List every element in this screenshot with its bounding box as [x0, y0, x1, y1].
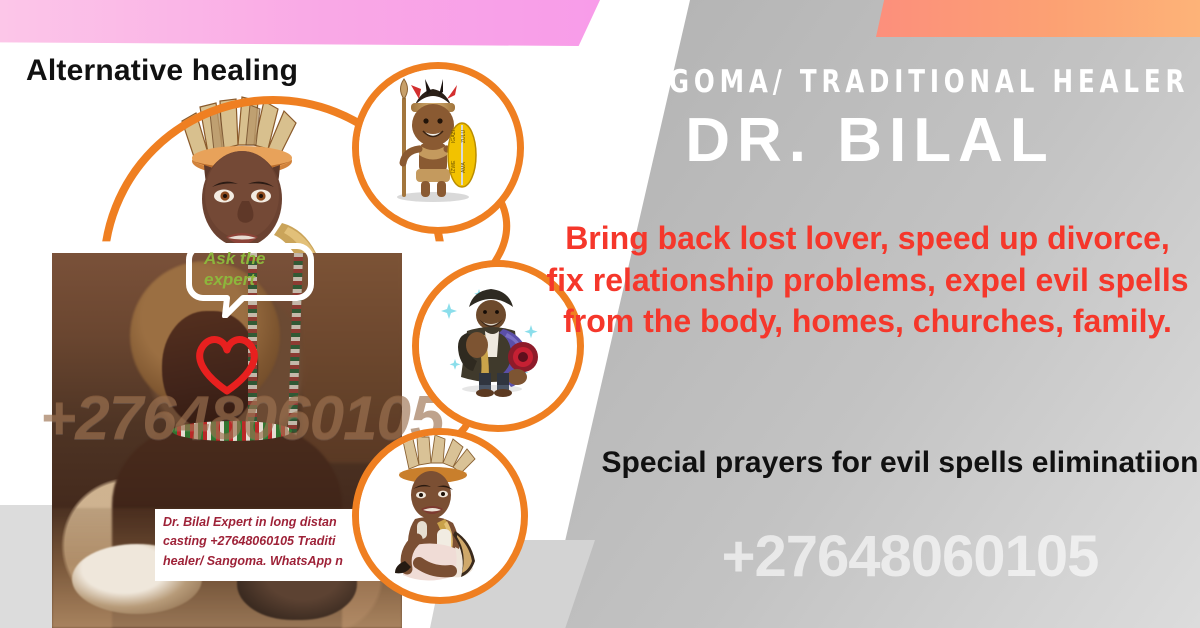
- top-orange-bar: [876, 0, 1200, 37]
- caption-line-1: Dr. Bilal Expert in long distan: [163, 513, 384, 532]
- speech-bubble-label: Ask the expert: [204, 248, 304, 291]
- phone-watermark: +27648060105: [620, 523, 1200, 590]
- circle-zulu-warrior: IGAZI ZULU IZWE AMA: [352, 62, 524, 234]
- top-pink-bar: [0, 0, 600, 46]
- bottom-left-gray-block: [0, 505, 54, 628]
- svg-text:AMA: AMA: [461, 162, 467, 174]
- heart-icon: [193, 333, 261, 395]
- caption-line-2: casting +27648060105 Traditi: [163, 532, 384, 551]
- prayers-text: Special prayers for evil spells eliminat…: [600, 443, 1200, 483]
- services-text: Bring back lost lover, speed up divorce,…: [545, 218, 1190, 343]
- svg-text:ZULU: ZULU: [461, 130, 467, 143]
- page-title: Alternative healing: [26, 54, 298, 88]
- caption-line-3: healer/ Sangoma. WhatsApp n: [163, 552, 384, 571]
- svg-text:IZWE: IZWE: [451, 160, 457, 173]
- headline-name: DR. BILAL: [560, 105, 1180, 176]
- svg-text:IGAZI: IGAZI: [451, 130, 457, 143]
- circle-sangoma-dancer: [352, 428, 528, 604]
- kicker-text: SANGOMA/ TRADITIONAL HEALER: [597, 64, 1143, 100]
- poster-canvas: Alternative healing: [0, 0, 1200, 628]
